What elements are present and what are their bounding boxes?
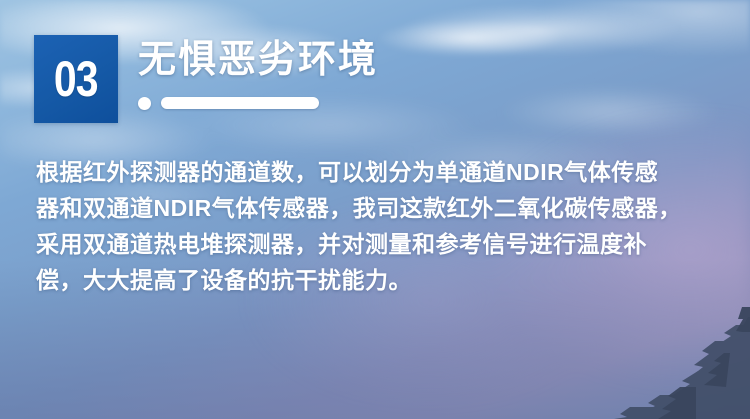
feature-banner: 03 无惧恶劣环境 根据红外探测器的通道数，可以划分为单通道NDIR气体传感 器… xyxy=(0,0,750,419)
tree-foliage-icon xyxy=(510,299,750,419)
body-line: 偿，大大提高了设备的抗干扰能力。 xyxy=(36,262,726,298)
banner-header: 03 无惧恶劣环境 xyxy=(34,35,378,123)
banner-body-copy: 根据红外探测器的通道数，可以划分为单通道NDIR气体传感 器和双通道NDIR气体… xyxy=(36,154,726,298)
body-line: 根据红外探测器的通道数，可以划分为单通道NDIR气体传感 xyxy=(36,154,726,190)
title-block: 无惧恶劣环境 xyxy=(138,35,378,110)
title-underline-decoration xyxy=(138,97,378,110)
body-line: 采用双通道热电堆探测器，并对测量和参考信号进行温度补 xyxy=(36,226,726,262)
banner-title: 无惧恶劣环境 xyxy=(138,37,378,85)
decoration-dot-icon xyxy=(138,97,151,110)
decoration-bar-icon xyxy=(161,97,319,109)
body-line: 器和双通道NDIR气体传感器，我司这款红外二氧化碳传感器， xyxy=(36,190,726,226)
section-number-badge: 03 xyxy=(34,35,118,123)
section-number-text: 03 xyxy=(54,54,98,104)
